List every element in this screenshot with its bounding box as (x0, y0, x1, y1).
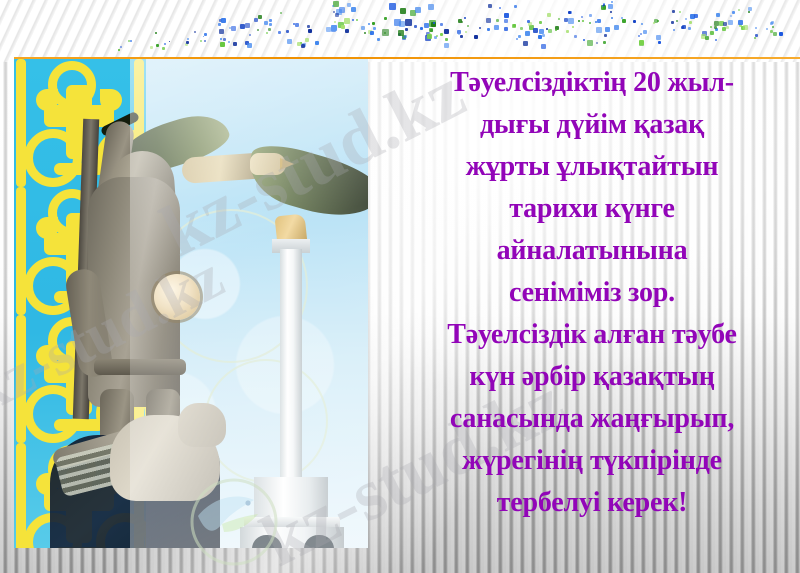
floral-pixel (223, 38, 226, 41)
floral-pixel (278, 31, 281, 34)
floral-pixel (558, 18, 560, 20)
ornament-shape (16, 315, 26, 443)
ornament-shape (100, 89, 122, 111)
floral-pixel (334, 21, 336, 23)
floral-pixel (538, 35, 542, 39)
floral-pixel (710, 31, 714, 35)
floral-pixel (331, 25, 337, 31)
floral-pixel (638, 35, 640, 37)
floral-pixel (568, 11, 571, 14)
floral-pixel (194, 31, 196, 33)
floral-pixel (604, 34, 607, 37)
floral-pixel (240, 24, 245, 29)
floral-pixel (608, 4, 613, 9)
statue-belt (94, 359, 186, 375)
floral-pixel (229, 27, 231, 29)
floral-pixel (771, 21, 774, 24)
slide-text-line: дығы дүйім қазақ (480, 104, 704, 146)
slide-text-line: Тәуелсіздік алған тәубе (447, 314, 736, 356)
floral-pixel (155, 32, 157, 34)
snow-leopard-head (178, 403, 226, 447)
ornament-scroll-icon (48, 61, 96, 109)
floral-pixel (499, 7, 501, 9)
floral-pixel (464, 17, 466, 19)
slide-text-line: санасында жаңғырып, (450, 398, 734, 440)
ornament-scroll-icon (24, 129, 82, 187)
floral-pixel (595, 21, 597, 23)
floral-pixel (525, 31, 530, 36)
floral-pixel (658, 41, 661, 44)
floral-pixel (689, 21, 692, 24)
floral-pixel (527, 20, 530, 23)
floral-pixel (233, 42, 237, 46)
floral-pixel (611, 1, 613, 3)
floral-pixel (589, 22, 591, 24)
floral-pixel (361, 26, 365, 30)
floral-pixel (640, 33, 642, 35)
slide-text-line: сеніміміз зор. (509, 272, 675, 314)
floral-pixel (428, 4, 434, 10)
floral-pixel (335, 13, 339, 17)
floral-pixel (399, 21, 405, 27)
floral-pixel (356, 19, 358, 21)
floral-pixel (766, 28, 768, 30)
floral-pixel (128, 40, 130, 42)
floral-pixel (344, 18, 350, 24)
floral-pixel (445, 38, 448, 41)
floral-pixel (364, 32, 366, 34)
floral-pixel (465, 31, 467, 33)
floral-pixel (685, 18, 687, 20)
floral-pixel (420, 27, 423, 30)
floral-pixel (280, 12, 282, 14)
floral-pixel (488, 4, 492, 8)
floral-pixel (308, 29, 312, 33)
floral-pixel (520, 27, 523, 30)
floral-pixel (156, 44, 159, 47)
floral-pixel (494, 25, 499, 30)
floral-pixel (204, 40, 206, 42)
floral-pixel (738, 20, 743, 25)
ornament-shape (16, 59, 26, 187)
floral-pixel (440, 33, 443, 36)
floral-pixel (605, 27, 610, 32)
floral-pixel (504, 19, 508, 23)
floral-pixel (589, 14, 592, 17)
floral-pixel (641, 23, 643, 25)
floral-pixel (150, 46, 153, 49)
floral-pixel (372, 22, 375, 25)
floral-pixel (204, 33, 207, 36)
floral-pixel (566, 30, 569, 33)
floral-pixel (671, 21, 674, 24)
slide-text-line: тарихи күнге (509, 188, 675, 230)
floral-pixel (264, 21, 268, 25)
floral-pixel (266, 32, 268, 34)
monument-photo (14, 59, 368, 548)
floral-pixel (547, 13, 551, 17)
floral-pixel (269, 23, 272, 26)
floral-pixel (514, 5, 517, 8)
floral-pixel (578, 20, 580, 22)
floral-pixel (743, 25, 748, 30)
floral-pixel (377, 38, 380, 41)
slide-text-line: Тәуелсіздіктің 20 жыл- (450, 62, 734, 104)
floral-pixel (555, 29, 557, 31)
floral-pixel (581, 16, 583, 18)
floral-pixel (162, 47, 165, 50)
floral-pixel (187, 38, 189, 40)
slide-text-line: тербелуі керек! (497, 482, 688, 524)
floral-pixel (295, 23, 299, 27)
floral-pixel (587, 40, 593, 46)
floral-pixel (286, 30, 289, 33)
floral-pixel (458, 19, 462, 23)
slide-text-line: жүрегінің түкпірінде (462, 440, 722, 482)
floral-pixel (258, 15, 262, 19)
floral-pixel (219, 29, 224, 34)
floral-pixel (203, 36, 204, 37)
floral-pixel (352, 19, 354, 21)
floral-pixel (130, 40, 132, 42)
floral-pixel (533, 28, 538, 33)
floral-pixel (220, 42, 225, 47)
floral-pixel (345, 29, 349, 33)
floral-pixel (247, 43, 252, 48)
floral-pixel (389, 3, 396, 10)
floral-pixel (120, 46, 122, 48)
floral-pixel (523, 41, 528, 46)
floral-pixel (639, 40, 644, 45)
floral-pixel (118, 49, 120, 51)
floral-pixel (748, 11, 750, 13)
floral-pixel (257, 29, 259, 31)
floral-pixel (653, 22, 655, 24)
floral-pixel (384, 17, 387, 20)
floral-pixel (603, 3, 605, 5)
floral-pixel (186, 41, 189, 44)
floral-pixel (773, 32, 777, 36)
floral-pixel (467, 25, 469, 27)
floral-pixel (433, 22, 435, 24)
floral-pixel (614, 25, 619, 30)
floral-pixel (548, 29, 552, 33)
floral-pixel (254, 18, 258, 22)
floral-pixel (583, 39, 585, 41)
floral-pixel (610, 11, 612, 13)
floral-pixel (679, 11, 681, 13)
floral-pixel (726, 26, 729, 29)
floral-pixel (603, 41, 606, 44)
floral-pixel (572, 26, 574, 28)
floral-pixel (672, 10, 675, 13)
floral-pixel (574, 35, 577, 38)
floral-pixel (643, 30, 647, 34)
slide-canvas: kz-stud.kz kz-stud.kz kz-stud.kz Тәуелсі… (0, 0, 800, 573)
floral-pixel (479, 27, 481, 29)
floral-pixel (542, 34, 545, 37)
floral-pixel (382, 29, 389, 36)
floral-pixel (596, 27, 602, 33)
floral-pixel (657, 20, 659, 22)
floral-pixel (228, 41, 230, 43)
floral-pixel (400, 8, 406, 14)
floral-pixel (714, 26, 717, 29)
floral-pixel (779, 32, 783, 36)
floral-pixel (436, 35, 438, 37)
floral-pixel (732, 11, 735, 14)
floral-pixel (728, 20, 733, 25)
ornament-shape (16, 187, 26, 315)
statue-sun-disc (154, 274, 200, 320)
floral-pixel (754, 37, 756, 39)
floral-pixel (513, 24, 516, 27)
floral-pixel (351, 7, 356, 12)
floral-pixel (496, 19, 499, 22)
floral-pixel (415, 7, 421, 13)
eagle-beak (280, 158, 294, 170)
floral-pixel (405, 28, 408, 31)
floral-pixel (231, 26, 236, 31)
floral-pixel (504, 27, 508, 31)
floral-pixel (297, 42, 301, 46)
floral-pixel (249, 34, 251, 36)
floral-pixel (444, 29, 449, 34)
slide-text-line: күн әрбір қазақтың (469, 356, 714, 398)
floral-pixel (694, 14, 698, 18)
floral-pixel (730, 15, 732, 17)
floral-pixel (715, 39, 717, 41)
floral-pixel (429, 28, 433, 32)
floral-pixel (332, 5, 334, 7)
floral-pixel (748, 7, 752, 11)
floral-pixel (169, 41, 170, 42)
floral-pixel (326, 27, 331, 32)
slide-text-line: айналатынына (497, 230, 688, 272)
floral-pixel (738, 9, 740, 11)
floral-pixel (603, 6, 606, 9)
floral-pixel (404, 35, 407, 38)
floral-pixel (676, 20, 678, 22)
floral-pixel (370, 31, 374, 35)
floral-pixel (597, 19, 601, 23)
floral-pixel (269, 19, 272, 22)
floral-pixel (673, 29, 675, 31)
floral-pixel (486, 18, 491, 23)
floral-pixel (301, 44, 305, 48)
floral-pixel (427, 34, 432, 39)
floral-pixel (755, 27, 757, 29)
floral-pixel (714, 21, 719, 26)
floral-pixel (682, 25, 686, 29)
floral-pixel (539, 29, 544, 34)
floral-pixel (245, 23, 250, 28)
floral-pixel (293, 23, 295, 25)
floral-pixel (200, 40, 202, 42)
monument-column-shaft (280, 249, 302, 479)
ornament-shape (16, 443, 26, 548)
floral-pixel (518, 35, 521, 38)
floral-border-icon (0, 0, 800, 58)
floral-pixel (305, 38, 309, 42)
floral-pixel (268, 28, 271, 31)
ornament-shape (54, 419, 104, 431)
floral-pixel (596, 42, 598, 44)
floral-pixel (368, 23, 370, 25)
floral-pixel (568, 18, 574, 24)
floral-pixel (221, 18, 226, 23)
floral-pixel (373, 27, 376, 30)
floral-pixel (710, 26, 712, 28)
floral-pixel (656, 35, 661, 40)
floral-pixel (307, 25, 310, 28)
floral-pixel (611, 17, 613, 19)
floral-pixel (474, 35, 478, 39)
slide-text-block: Тәуелсіздіктің 20 жыл-дығы дүйім қазақжұ… (386, 62, 798, 562)
floral-pixel (516, 38, 518, 40)
floral-pixel (414, 25, 417, 28)
floral-pixel (487, 28, 490, 31)
floral-pixel (772, 26, 774, 28)
floral-pixel (405, 19, 412, 26)
floral-pixel (164, 43, 166, 45)
floral-pixel (287, 39, 292, 44)
floral-pixel (424, 23, 429, 28)
floral-pixel (633, 20, 636, 23)
slide-text-line: жұрты ұлықтайтын (466, 146, 719, 188)
floral-pixel (541, 44, 546, 49)
floral-pixel (220, 38, 222, 40)
floral-pixel (716, 13, 720, 17)
floral-pixel (315, 41, 319, 45)
floral-pixel (341, 25, 345, 29)
floral-pixel (622, 19, 626, 23)
pedestal-upper-block (254, 477, 328, 521)
floral-pixel (504, 13, 509, 18)
floral-pixel (582, 20, 584, 22)
floral-pixel (440, 23, 443, 26)
floral-pixel (539, 21, 542, 24)
floral-pixel (705, 36, 709, 40)
floral-pixel (460, 35, 463, 38)
floral-pixel (444, 43, 449, 48)
floral-pixel (218, 23, 221, 26)
floral-pixel (688, 27, 691, 30)
floral-pixel (347, 3, 351, 7)
